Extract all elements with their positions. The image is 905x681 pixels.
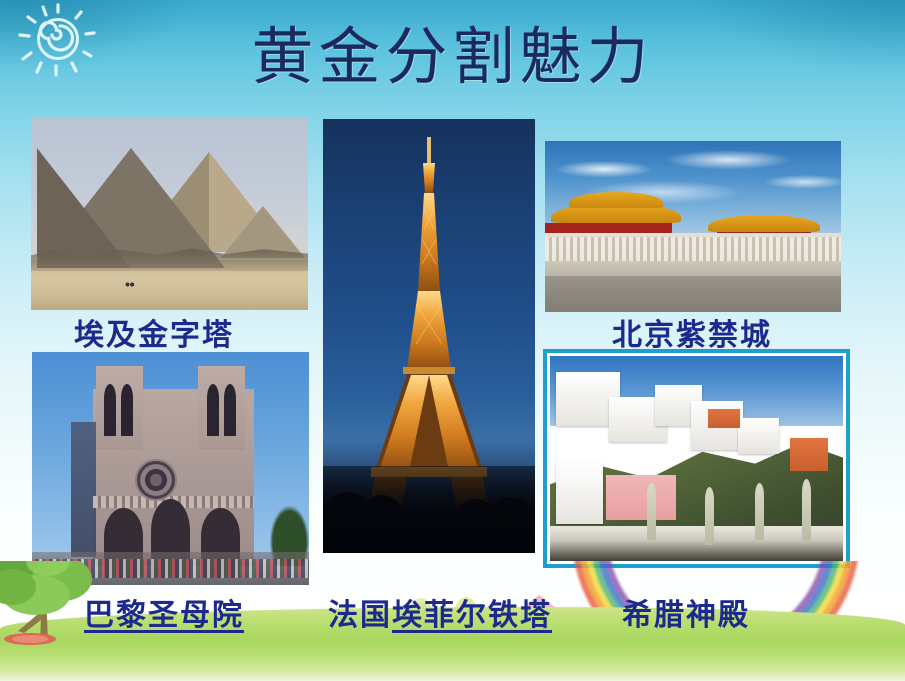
photo-greek-village-image [550,356,843,561]
tower-left [96,366,143,450]
tower-left-arch-2 [121,384,133,436]
parasol-4 [802,479,811,541]
tower-left-arch-1 [104,384,116,436]
scaffolding [71,422,96,557]
parasol-2 [705,487,714,544]
caption-eiffel-underlined: 埃菲尔铁塔 [392,598,552,633]
photo-notre-dame[interactable] [32,352,309,585]
caption-eiffel-plain: 法国 [328,598,392,633]
caption-eiffel-tower: 法国埃菲尔铁塔 [328,590,552,634]
photo-forbidden-city[interactable] [545,141,841,312]
marble-balustrade [545,237,841,261]
white-building-6 [556,463,603,525]
white-building-5 [738,418,779,455]
presentation-slide: 黄金分割魅力 [0,0,905,681]
orange-building-1 [708,409,740,427]
orange-building-2 [790,438,828,471]
photo-eiffel-tower[interactable] [323,119,535,553]
stone-plaza [545,276,841,312]
caption-greek-temple: 希腊神殿 [622,590,750,634]
caption-forbidden-city: 北京紫禁城 [612,310,772,354]
parasol-3 [755,483,764,540]
tower-right [198,366,245,450]
desert-figures [125,282,137,287]
rose-window [135,459,177,501]
parasol-1 [647,483,656,540]
photo-pyramids[interactable] [31,117,308,310]
photo-pyramids-image [31,117,308,310]
tower-right-arch-2 [224,384,236,436]
pyramid-large-shadow [37,148,131,268]
pink-building [606,475,676,520]
photo-notre-dame-image [32,352,309,585]
photo-greek-village[interactable] [543,349,850,568]
caption-notre-dame: 巴黎圣母院 [84,590,244,634]
photo-eiffel-image [323,119,535,553]
tower-right-arch-1 [207,384,219,436]
photo-forbidden-city-image [545,141,841,312]
page-title: 黄金分割魅力 [0,22,905,92]
waterfront-terrace [550,526,843,561]
caption-pyramids: 埃及金字塔 [74,310,234,354]
hall-main-upper-roof [569,192,664,207]
foreground-shadow [323,466,535,553]
